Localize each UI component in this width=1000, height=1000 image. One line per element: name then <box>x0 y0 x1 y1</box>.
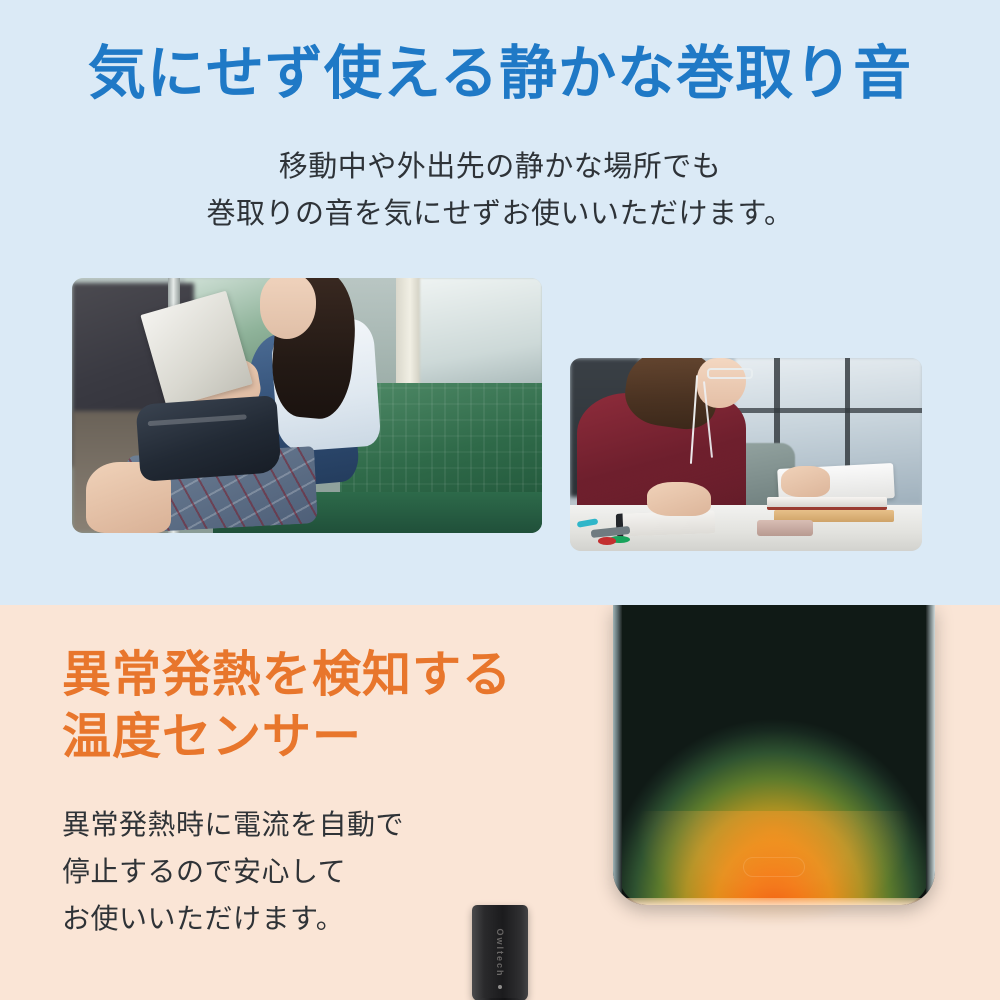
usb-cable-connector: Owltech <box>472 905 528 1000</box>
heat-body-line-3: お使いいただけます。 <box>62 895 404 942</box>
heat-body-line-2: 停止するので安心して <box>62 848 404 895</box>
desk-study-photo <box>570 358 922 551</box>
heat-section-heading: 異常発熱を検知する 温度センサー <box>62 645 512 768</box>
phone-with-thermal-glow <box>613 605 935 905</box>
student-backpack <box>135 396 281 482</box>
charging-port-outline <box>743 857 805 877</box>
quiet-section-subtitle: 移動中や外出先の静かな場所でも 巻取りの音を気にせずお使いいただけます。 <box>0 144 1000 238</box>
book-stack-upper <box>767 497 887 511</box>
heat-section-body: 異常発熱時に電流を自動で 停止するので安心して お使いいただけます。 <box>62 801 404 942</box>
phone-bottom-edge <box>619 898 929 905</box>
heat-heading-line-2: 温度センサー <box>62 707 512 769</box>
quiet-subtitle-line-1: 移動中や外出先の静かな場所でも <box>0 144 1000 191</box>
temperature-sensor-section: 異常発熱を検知する 温度センサー 異常発熱時に電流を自動で 停止するので安心して… <box>0 605 1000 1000</box>
window-mullion-horizontal <box>735 408 922 413</box>
smartphone-on-desk <box>757 520 813 535</box>
heat-heading-line-1: 異常発熱を検知する <box>62 645 512 707</box>
connector-indicator-dot <box>498 985 502 989</box>
woman-right-hand <box>781 466 830 497</box>
product-feature-page: 気にせず使える静かな巻取り音 移動中や外出先の静かな場所でも 巻取りの音を気にせ… <box>0 0 1000 1000</box>
train-commute-photo <box>72 278 542 533</box>
cable-brand-label: Owltech <box>495 928 505 977</box>
quiet-section-heading: 気にせず使える静かな巻取り音 <box>0 42 1000 107</box>
phone-edge-right <box>926 605 935 905</box>
phone-body <box>613 605 935 905</box>
woman-glasses <box>707 368 753 380</box>
train-photo-art <box>72 278 542 533</box>
quiet-subtitle-line-2: 巻取りの音を気にせずお使いいただけます。 <box>0 191 1000 238</box>
heat-body-line-1: 異常発熱時に電流を自動で <box>62 801 404 848</box>
desk-photo-art <box>570 358 922 551</box>
woman-left-hand <box>647 482 710 517</box>
phone-edge-left <box>613 605 622 905</box>
quiet-rewind-section: 気にせず使える静かな巻取り音 移動中や外出先の静かな場所でも 巻取りの音を気にせ… <box>0 0 1000 605</box>
backpack-zipper <box>148 415 247 427</box>
